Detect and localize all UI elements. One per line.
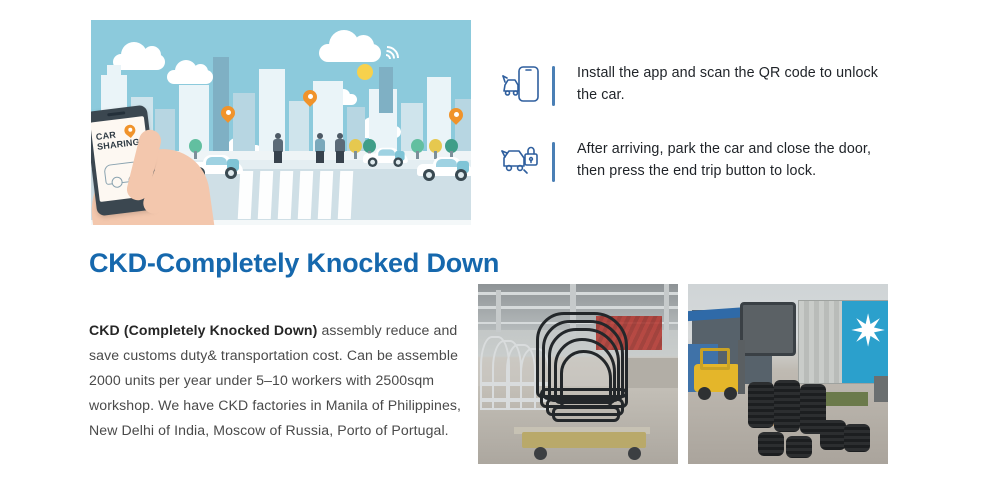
star-logo-icon: ✷ bbox=[848, 312, 888, 352]
forklift-container-loading-photo: ✷ bbox=[688, 284, 888, 464]
tire-stack bbox=[820, 420, 846, 450]
forklift bbox=[694, 348, 746, 400]
pedestrian bbox=[273, 133, 283, 163]
feature-text: Install the app and scan the QR code to … bbox=[577, 60, 898, 106]
building-tower bbox=[379, 67, 393, 113]
factory-stacked-frames-photo bbox=[478, 284, 678, 464]
building-spire bbox=[107, 65, 121, 79]
location-pin-icon bbox=[124, 124, 137, 140]
crosswalk-stripe bbox=[278, 171, 294, 219]
wifi-signal-icon bbox=[381, 48, 403, 66]
sun-icon bbox=[357, 64, 373, 80]
phone-scan-car-icon bbox=[498, 60, 544, 106]
pedestrian bbox=[335, 133, 345, 163]
body-line6: of India, Moscow of Russia, Porto of Por… bbox=[158, 422, 449, 438]
shared-car bbox=[417, 159, 471, 181]
page-title: CKD-Completely Knocked Down bbox=[89, 248, 499, 279]
tree-icon bbox=[445, 139, 458, 159]
building bbox=[233, 93, 255, 153]
phone-speaker bbox=[107, 111, 125, 116]
hand-holding-phone: CAR SHARING bbox=[91, 111, 235, 225]
section-body-text: CKD (Completely Knocked Down) assembly r… bbox=[89, 318, 464, 443]
crosswalk-stripe bbox=[298, 171, 314, 219]
location-pin-icon bbox=[449, 108, 463, 127]
feature-item-lock: After arriving, park the car and close t… bbox=[498, 136, 898, 192]
cloud-icon bbox=[319, 44, 381, 62]
feature-text: After arriving, park the car and close t… bbox=[577, 136, 898, 182]
crosswalk-stripe bbox=[318, 171, 334, 219]
feature-divider bbox=[552, 142, 555, 182]
shared-car bbox=[363, 149, 408, 167]
tire-stack bbox=[786, 436, 812, 458]
cloud-icon bbox=[167, 70, 213, 84]
crosswalk-stripe bbox=[338, 171, 354, 219]
pedestrian bbox=[315, 133, 325, 163]
tree-icon bbox=[429, 139, 442, 159]
feature-list: Install the app and scan the QR code to … bbox=[498, 60, 898, 192]
tire-stack bbox=[844, 424, 870, 452]
car-sharing-city-illustration: CAR SHARING bbox=[91, 20, 471, 225]
tree-icon bbox=[349, 139, 362, 159]
tire-stack bbox=[774, 380, 800, 432]
location-pin-icon bbox=[303, 90, 317, 109]
feature-item-unlock: Install the app and scan the QR code to … bbox=[498, 60, 898, 116]
tree-icon bbox=[411, 139, 424, 159]
car-lock-icon bbox=[498, 136, 544, 182]
page-root: CAR SHARING bbox=[0, 0, 1000, 487]
lifted-cargo bbox=[740, 302, 796, 356]
body-bold-lead: CKD (Completely Knocked Down) bbox=[89, 322, 317, 338]
tire-stack bbox=[748, 382, 774, 428]
feature-divider bbox=[552, 66, 555, 106]
crosswalk-stripe bbox=[258, 171, 274, 219]
body-line1-rest: assembly reduce bbox=[317, 322, 429, 338]
tire-stack bbox=[758, 432, 784, 456]
stacked-black-frames bbox=[534, 312, 638, 426]
